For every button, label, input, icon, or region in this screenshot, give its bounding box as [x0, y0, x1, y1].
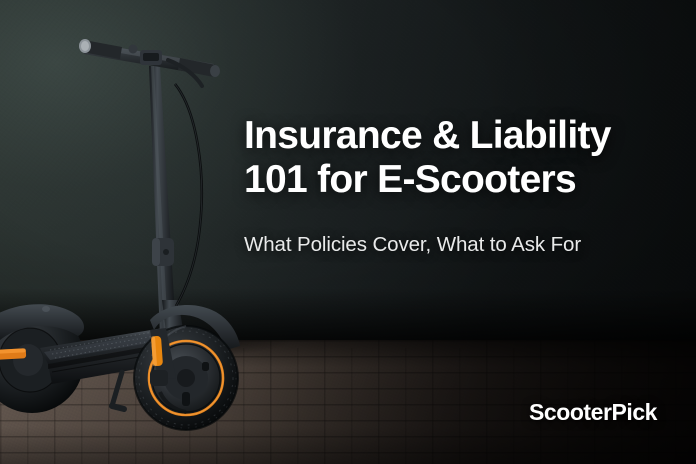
front-wheel — [134, 326, 238, 430]
hero-banner: Insurance & Liability 101 for E-Scooters… — [0, 0, 696, 464]
page-title: Insurance & Liability 101 for E-Scooters — [244, 114, 664, 202]
rear-reflector — [0, 348, 26, 360]
page-subtitle: What Policies Cover, What to Ask For — [244, 231, 664, 258]
brand-logo: ScooterPick — [529, 399, 657, 426]
handlebar — [79, 39, 220, 86]
brake-cable — [175, 84, 202, 306]
kickstand — [112, 372, 124, 409]
